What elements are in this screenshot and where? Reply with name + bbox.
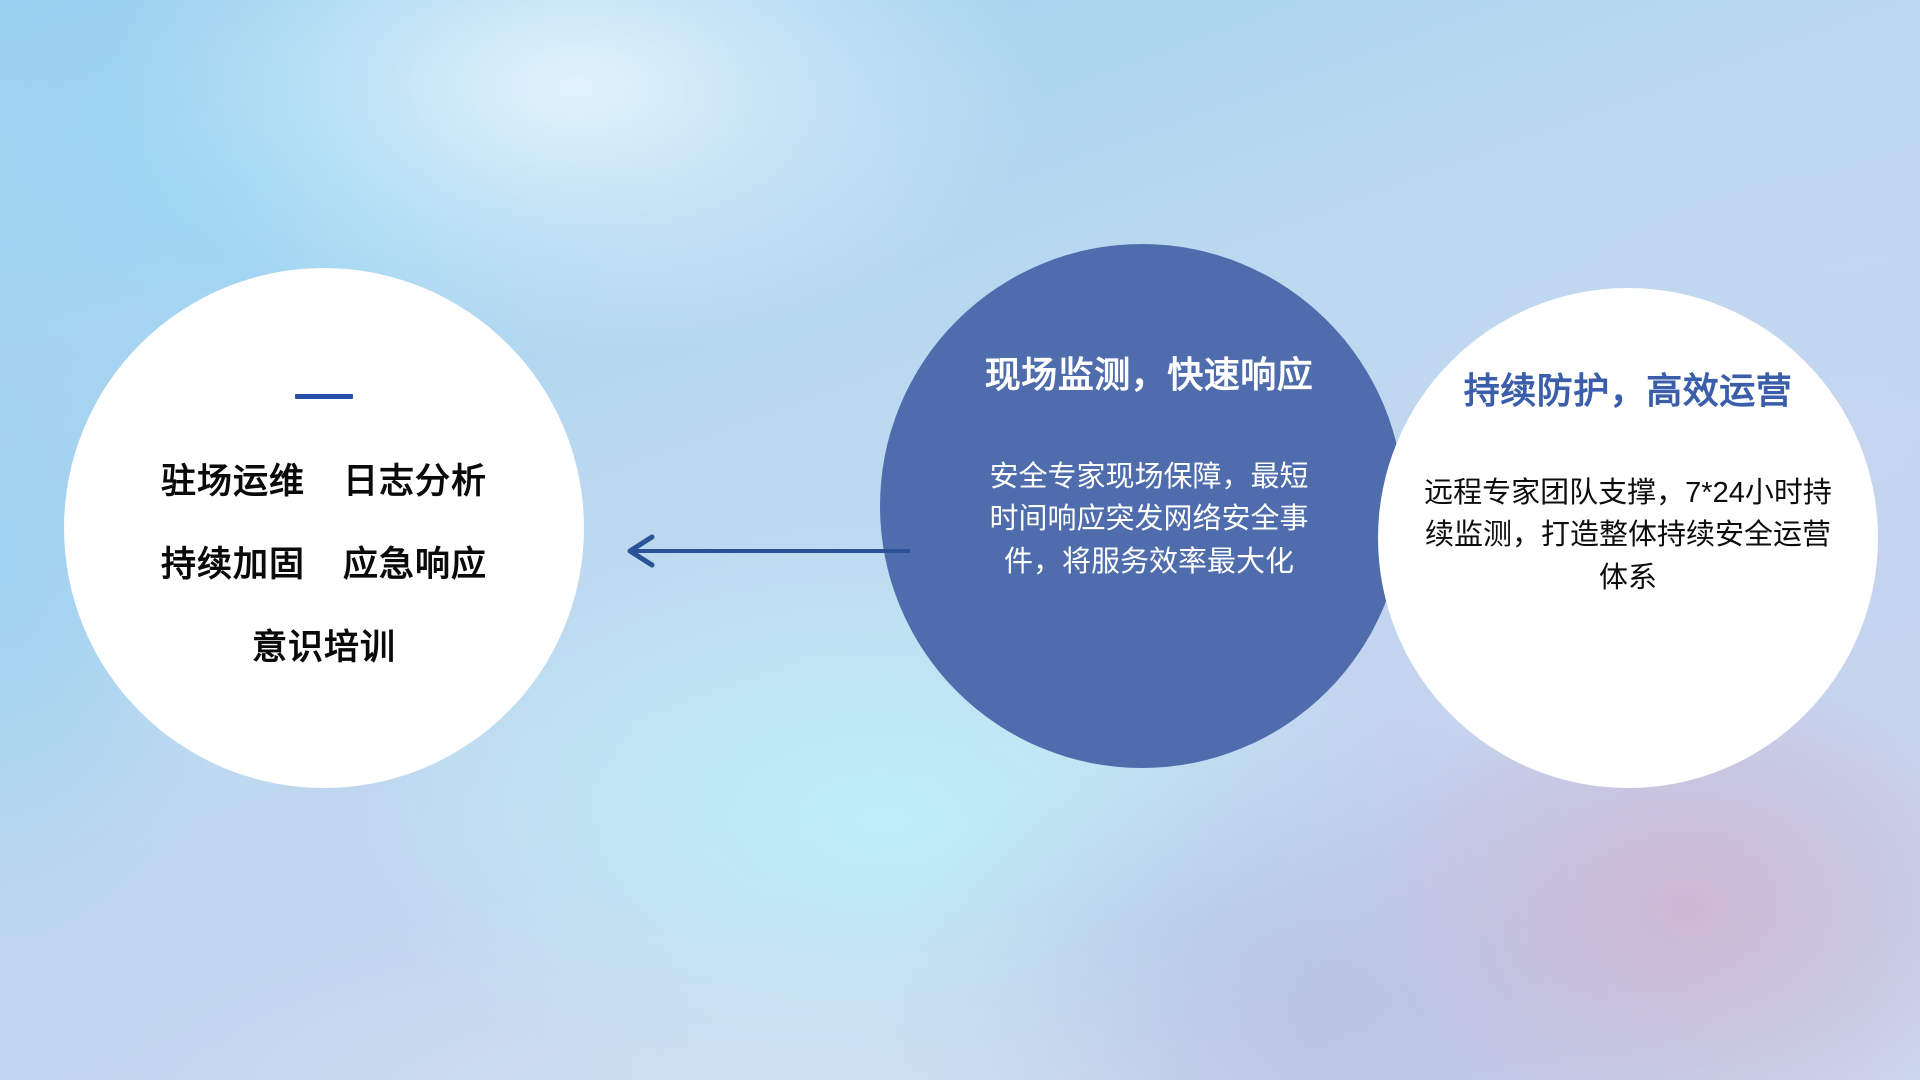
- keyword-item: 应急响应: [343, 536, 487, 587]
- keyword-row: 意识培训: [252, 619, 396, 670]
- keyword-item: 驻场运维: [161, 453, 305, 504]
- right-circle-content: 持续防护，高效运营 远程专家团队支撑，7*24小时持续监测，打造整体持续安全运营…: [1378, 288, 1878, 788]
- keyword-row: 驻场运维 日志分析: [161, 453, 487, 504]
- keyword-item: 日志分析: [343, 453, 487, 504]
- keyword-item: 持续加固: [161, 536, 305, 587]
- middle-circle-title: 现场监测，快速响应: [985, 346, 1314, 398]
- divider-line: [295, 394, 353, 399]
- slide-canvas: 驻场运维 日志分析 持续加固 应急响应 意识培训 现场监测，快速响应 安全专家现…: [0, 0, 1920, 1080]
- middle-circle-content: 现场监测，快速响应 安全专家现场保障，最短时间响应突发网络安全事件，将服务效率最…: [880, 244, 1404, 768]
- right-circle-body: 远程专家团队支撑，7*24小时持续监测，打造整体持续安全运营体系: [1418, 472, 1838, 599]
- middle-circle-body: 安全专家现场保障，最短时间响应突发网络安全事件，将服务效率最大化: [984, 456, 1314, 583]
- keyword-row: 持续加固 应急响应: [161, 536, 487, 587]
- right-circle-title: 持续防护，高效运营: [1464, 362, 1793, 414]
- keyword-item: 意识培训: [252, 619, 396, 670]
- flow-arrow-icon: [610, 528, 910, 574]
- keyword-list: 驻场运维 日志分析 持续加固 应急响应 意识培训: [161, 453, 487, 670]
- left-circle-content: 驻场运维 日志分析 持续加固 应急响应 意识培训: [64, 268, 584, 788]
